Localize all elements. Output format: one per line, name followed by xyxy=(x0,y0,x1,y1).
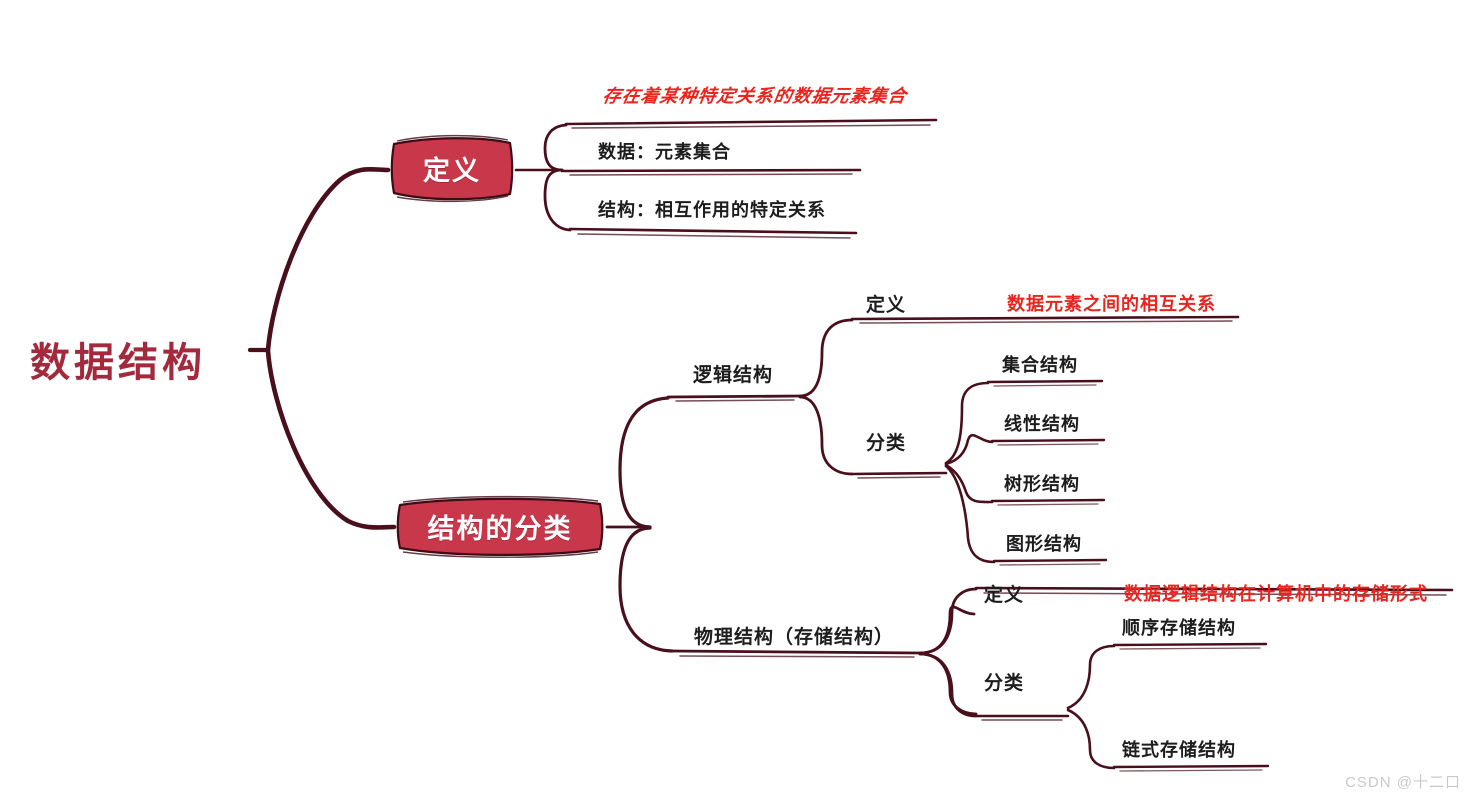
connector-lines xyxy=(0,0,1473,802)
leaf-tree-structure[interactable]: 树形结构 xyxy=(1004,470,1080,496)
mindmap-canvas: 数据结构 定义 结构的分类 存在着某种特定关系的数据元素集合 数据：元素集合 结… xyxy=(0,0,1473,802)
leaf-structure-relation[interactable]: 结构：相互作用的特定关系 xyxy=(598,196,826,222)
branch-physical-structure[interactable]: 物理结构（存储结构） xyxy=(694,622,894,649)
leaf-linked-storage[interactable]: 链式存储结构 xyxy=(1122,736,1236,762)
note-physical-define[interactable]: 数据逻辑结构在计算机中的存储形式 xyxy=(1124,580,1428,606)
branch-logical-classify[interactable]: 分类 xyxy=(866,428,906,455)
branch-physical-define[interactable]: 定义 xyxy=(984,580,1024,607)
note-logical-define[interactable]: 数据元素之间的相互关系 xyxy=(1007,290,1216,316)
node-classification[interactable]: 结构的分类 xyxy=(393,493,607,559)
node-classification-label: 结构的分类 xyxy=(428,507,573,546)
watermark: CSDN @十二口 xyxy=(1345,771,1461,792)
note-define-description[interactable]: 存在着某种特定关系的数据元素集合 xyxy=(601,82,909,108)
branch-logical-structure[interactable]: 逻辑结构 xyxy=(693,360,773,387)
branch-logical-define[interactable]: 定义 xyxy=(866,290,906,317)
leaf-sequential-storage[interactable]: 顺序存储结构 xyxy=(1122,614,1236,640)
leaf-set-structure[interactable]: 集合结构 xyxy=(1002,351,1078,377)
node-define[interactable]: 定义 xyxy=(388,131,516,205)
leaf-graph-structure[interactable]: 图形结构 xyxy=(1006,530,1082,556)
leaf-data-elements[interactable]: 数据：元素集合 xyxy=(598,138,731,164)
node-define-label: 定义 xyxy=(423,149,481,188)
leaf-linear-structure[interactable]: 线性结构 xyxy=(1004,410,1080,436)
root-node-label[interactable]: 数据结构 xyxy=(30,330,206,388)
branch-physical-classify[interactable]: 分类 xyxy=(984,668,1024,695)
